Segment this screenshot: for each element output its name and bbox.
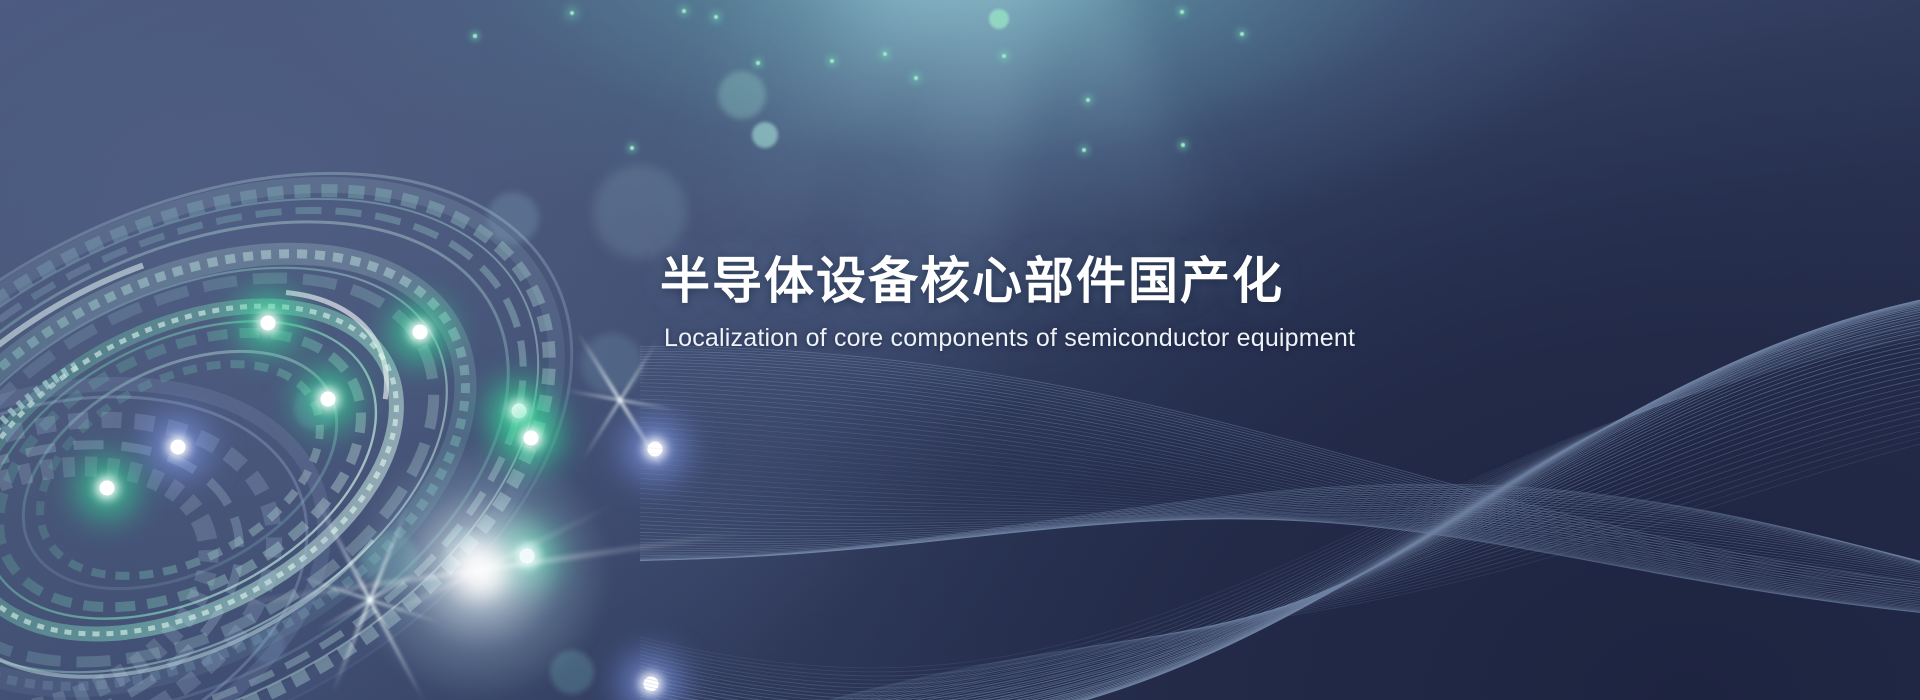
mesh-line — [640, 458, 1920, 610]
light-particle — [1240, 32, 1244, 36]
light-particle — [570, 11, 575, 16]
bokeh-circle — [989, 9, 1009, 29]
wave-mesh-lines-icon — [640, 300, 1920, 700]
mesh-line — [640, 301, 1920, 700]
mesh-line — [640, 435, 1920, 700]
light-particle — [630, 146, 633, 149]
light-particle — [1082, 148, 1086, 152]
light-particle — [1180, 10, 1183, 13]
mesh-line — [640, 301, 1920, 700]
bokeh-circle — [752, 122, 778, 148]
mesh-line — [640, 357, 1920, 700]
bokeh-circle — [718, 71, 766, 119]
light-particle — [682, 9, 686, 13]
mesh-line — [640, 342, 1920, 700]
light-particle — [473, 34, 476, 37]
light-particle — [830, 59, 834, 63]
page-title: 半导体设备核心部件国产化 — [660, 252, 1480, 310]
light-particle — [1002, 54, 1006, 58]
mesh-line — [640, 406, 1920, 700]
light-particle — [914, 76, 918, 80]
mesh-line — [640, 366, 1920, 604]
mesh-line — [640, 369, 1920, 606]
page-subtitle: Localization of core components of semic… — [664, 324, 1480, 353]
light-particle — [883, 52, 887, 56]
hero-banner: 半导体设备核心部件国产化 Localization of core compon… — [0, 0, 1920, 700]
mesh-line — [640, 305, 1920, 700]
banner-text-block: 半导体设备核心部件国产化 Localization of core compon… — [660, 252, 1480, 353]
light-particle — [1181, 143, 1184, 146]
light-particle — [714, 15, 718, 19]
mesh-line — [640, 354, 1920, 595]
light-particle — [756, 61, 759, 64]
light-particle — [1086, 98, 1090, 102]
mesh-line — [640, 352, 1920, 700]
mesh-line — [640, 294, 1920, 700]
mesh-line — [640, 294, 1920, 700]
